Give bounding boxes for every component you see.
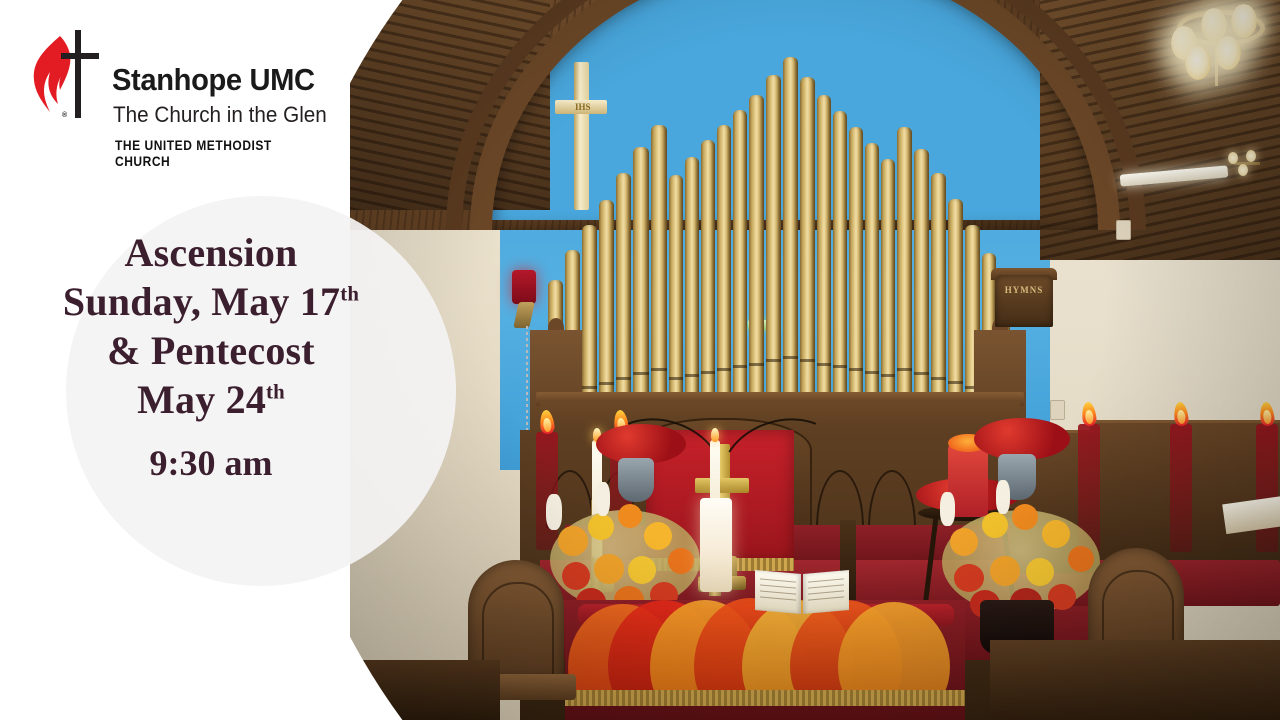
sanctuary-lamp — [512, 270, 536, 304]
chandelier-bulb — [1215, 36, 1241, 70]
pew-front — [990, 640, 1280, 720]
denomination-label: THE UNITED METHODIST CHURCH — [115, 137, 321, 169]
umc-cross-and-flame-icon: ® — [28, 30, 106, 122]
ihs-monogram: IHS — [575, 101, 588, 113]
altar-fringe — [565, 690, 965, 706]
announcement-line-1: Ascension — [36, 228, 386, 277]
pentecost-flame — [1256, 398, 1278, 426]
sconce-arm — [1234, 162, 1260, 165]
chandelier-bulb — [1231, 4, 1257, 38]
sconce-bulb — [1246, 150, 1256, 162]
church-sanctuary-photo: IHS HYMNS — [350, 0, 1280, 720]
wall-outlet — [1116, 220, 1131, 240]
announcement-line-4: May 24th — [36, 375, 386, 424]
announcement-text: Ascension Sunday, May 17th & Pentecost M… — [36, 228, 386, 488]
pipe-organ — [548, 55, 1008, 425]
bible-right-page — [803, 570, 849, 614]
pentecost-drape — [1170, 424, 1192, 552]
sconce-bulb — [1238, 164, 1248, 176]
pentecost-drape — [1256, 424, 1278, 552]
cross-horizontal — [61, 53, 99, 59]
church-logo: ® Stanhope UMC The Church in the Glen TH… — [24, 28, 354, 168]
cross-vertical — [75, 30, 81, 118]
open-bible — [755, 572, 851, 614]
cross-vertical — [574, 62, 589, 210]
hymn-board: HYMNS — [995, 275, 1053, 327]
sconce-bulb — [1228, 152, 1238, 164]
wall-sconce — [1212, 148, 1264, 184]
announcement-line-2: Sunday, May 17th — [36, 277, 386, 326]
hymn-board-label: HYMNS — [995, 285, 1053, 295]
chandelier-bulb — [1185, 46, 1211, 80]
cross-glyph — [58, 30, 102, 118]
pillar-candle — [700, 498, 732, 592]
church-name: Stanhope UMC — [112, 62, 315, 98]
wall-outlet — [1050, 400, 1065, 420]
service-time: 9:30 am — [36, 438, 386, 488]
poster-canvas: IHS HYMNS — [0, 0, 1280, 720]
registered-trademark: ® — [62, 112, 67, 119]
pew-front — [350, 660, 500, 720]
pentecost-flame — [1078, 398, 1100, 426]
organ-cross: IHS — [555, 62, 607, 210]
announcement-line-3: & Pentecost — [36, 326, 386, 375]
pentecost-flame — [536, 406, 558, 434]
bible-left-page — [755, 570, 801, 614]
sanctuary-lamp-chain — [526, 326, 528, 436]
pentecost-flame — [1170, 398, 1192, 426]
candle-flame — [711, 428, 719, 442]
chandelier — [1155, 0, 1275, 96]
church-tagline: The Church in the Glen — [113, 102, 327, 128]
